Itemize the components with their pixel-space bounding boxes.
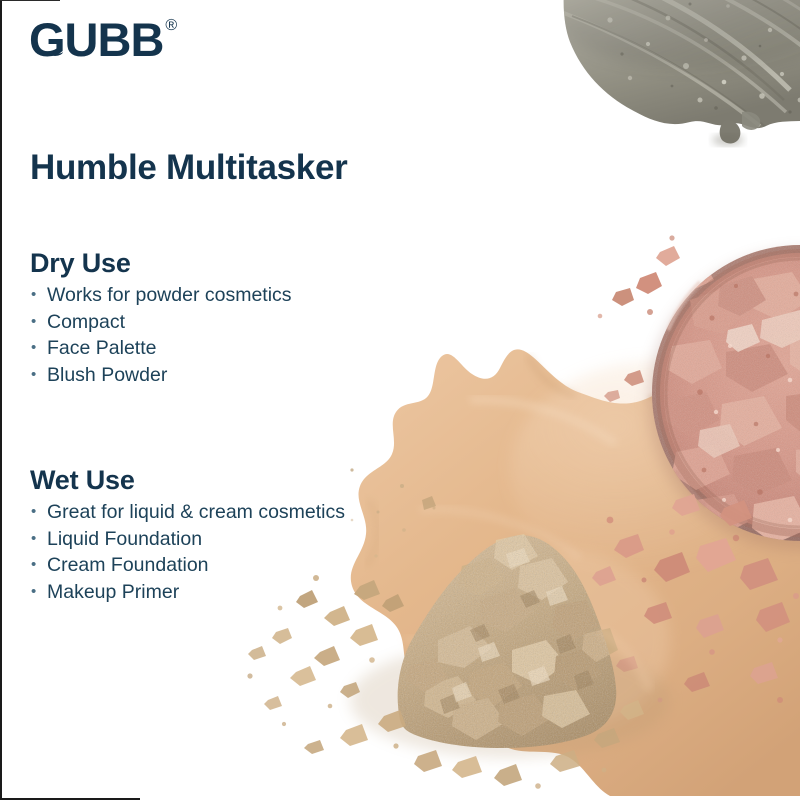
list-item: Cream Foundation [30,552,345,579]
list-item: Great for liquid & cream cosmetics [30,499,345,526]
list-item: Compact [30,309,292,336]
section-wet-use: Wet Use Great for liquid & cream cosmeti… [30,465,345,605]
product-infographic: GUBB ® Humble Multitasker Dry Use Works … [0,0,800,800]
frame-border-top [0,0,60,1]
page-title: Humble Multitasker [30,148,347,188]
registered-trademark-icon: ® [165,18,177,34]
list-item: Face Palette [30,335,292,362]
brand-logo-text: GUBB [29,16,163,63]
frame-border-left [0,0,2,800]
section-dry-use: Dry Use Works for powder cosmetics Compa… [30,248,292,388]
logo-swoosh-icon [47,47,63,56]
section-heading-wet-use: Wet Use [30,465,345,496]
wet-use-list: Great for liquid & cream cosmetics Liqui… [30,499,345,605]
list-item: Makeup Primer [30,579,345,606]
dry-use-list: Works for powder cosmetics Compact Face … [30,282,292,388]
list-item: Liquid Foundation [30,526,345,553]
brand-logo: GUBB ® [29,16,177,63]
list-item: Works for powder cosmetics [30,282,292,309]
list-item: Blush Powder [30,362,292,389]
section-heading-dry-use: Dry Use [30,248,292,279]
